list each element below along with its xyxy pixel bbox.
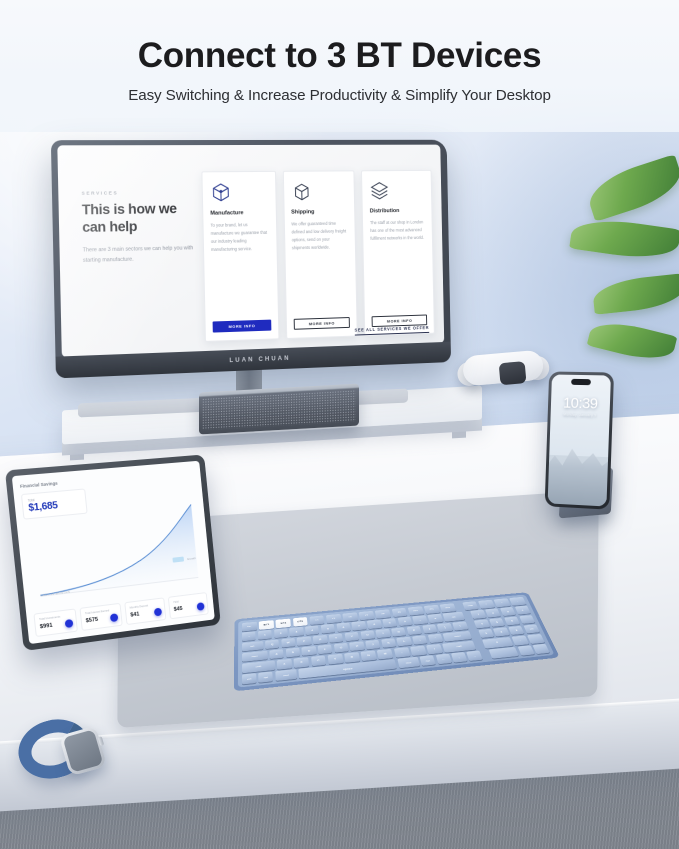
website-eyebrow: SERVICES	[81, 190, 192, 196]
stat-indicator-dot	[197, 602, 205, 611]
key-u[interactable]: U	[360, 630, 375, 640]
key-bluetooth-1[interactable]: BT1	[259, 620, 274, 630]
key-command-right[interactable]: cmd	[397, 657, 420, 668]
service-card-list: Manufacture To your brand, let us manufa…	[201, 158, 435, 342]
tablet-device: Financial Savings Total $1,685	[5, 454, 221, 651]
key-f9[interactable]: F9	[391, 608, 407, 617]
key-w[interactable]: W	[281, 638, 295, 648]
key-arrow-down[interactable]: ↓	[451, 652, 467, 662]
key-f4[interactable]: F4	[309, 615, 325, 624]
monitor-brand-label: LUAN CHUAN	[229, 355, 290, 363]
key-delete[interactable]: del	[443, 612, 465, 622]
key-period[interactable]: .	[410, 646, 427, 656]
key-s[interactable]: S	[286, 647, 301, 657]
numpad-key-enter[interactable]: ent	[523, 624, 540, 634]
service-card[interactable]: Distribution The staff at our shop in Lo…	[361, 170, 434, 336]
numpad-key-3[interactable]: 3	[508, 626, 525, 636]
numpad-key-bottom-2[interactable]	[517, 646, 534, 656]
key-6[interactable]: 6	[336, 623, 351, 632]
key-p[interactable]: P	[406, 626, 422, 636]
key-1[interactable]: 1	[258, 630, 272, 640]
key-c[interactable]: C	[311, 655, 327, 666]
numpad-key-1[interactable]: 1	[478, 629, 494, 639]
key-7[interactable]: 7	[352, 621, 367, 630]
key-backslash[interactable]: \	[452, 621, 468, 630]
plant-leaf	[583, 154, 679, 222]
numpad-key-multiply[interactable]: *	[494, 598, 511, 607]
key-bracket-left[interactable]: [	[422, 624, 438, 634]
key-option-right[interactable]: opt	[420, 655, 436, 666]
legend-label: Growth	[187, 556, 196, 561]
stat-card: Monthly Deposit $41	[124, 597, 166, 625]
key-i[interactable]: I	[376, 629, 391, 639]
key-y[interactable]: Y	[344, 632, 359, 642]
key-bluetooth-2[interactable]: BT2	[276, 619, 291, 628]
numpad-key-6[interactable]: 6	[504, 616, 520, 625]
key-minus[interactable]: -	[412, 615, 427, 624]
numpad-key-bottom-3[interactable]	[533, 644, 550, 654]
key-2[interactable]: 2	[274, 628, 288, 638]
package-box-icon	[291, 180, 348, 202]
stat-indicator-dot	[110, 613, 119, 622]
key-ctrl[interactable]: ctrl	[242, 673, 256, 684]
phone-lock-screen: 10:39 Monday, January 9	[548, 374, 611, 506]
curved-monitor: SERVICES This is how we can help There a…	[51, 140, 451, 379]
service-card-title: Manufacture	[210, 210, 268, 217]
key-capslock[interactable]: caps	[242, 651, 267, 663]
service-card-body: We offer guaranteed time defined and low…	[291, 220, 350, 312]
numpad-key-num[interactable]: num	[462, 601, 479, 610]
numpad-key-divide[interactable]: /	[478, 600, 495, 609]
numpad-key-9[interactable]: 9	[500, 607, 516, 616]
key-f8[interactable]: F8	[375, 609, 391, 618]
stat-card: Yield $45	[168, 592, 209, 620]
speaker-grille	[202, 390, 356, 431]
smartwatch	[16, 706, 108, 794]
watch-face	[63, 729, 104, 772]
numpad-key-2[interactable]: 2	[493, 627, 510, 637]
key-tilde[interactable]: ~	[242, 631, 256, 641]
stat-indicator-dot	[154, 607, 162, 616]
key-z[interactable]: Z	[277, 659, 292, 670]
key-8[interactable]: 8	[367, 620, 382, 629]
numpad-key-plus[interactable]: +	[514, 606, 530, 615]
hero-subheadline: Easy Switching & Increase Productivity &…	[0, 87, 679, 104]
numpad-key-7[interactable]: 7	[470, 610, 486, 619]
product-scene: Connect to 3 BT Devices Easy Switching &…	[0, 0, 679, 849]
numpad-key-5[interactable]: 5	[489, 618, 505, 627]
website-intro: SERVICES This is how we can help There a…	[81, 159, 196, 346]
monitor-screen: SERVICES This is how we can help There a…	[57, 145, 444, 358]
service-card[interactable]: Manufacture To your brand, let us manufa…	[201, 171, 279, 342]
service-card-title: Shipping	[291, 209, 348, 216]
stat-card: Total Interest Earned $575	[79, 602, 122, 631]
more-info-button[interactable]: MORE INFO	[293, 317, 350, 330]
key-option-left[interactable]: opt	[259, 672, 274, 683]
numpad-key-blank[interactable]	[519, 615, 536, 624]
key-arrow-left[interactable]: ←	[435, 654, 451, 664]
key-m[interactable]: M	[377, 649, 393, 659]
key-n[interactable]: N	[361, 650, 377, 660]
bluetooth-soundbar	[199, 384, 359, 435]
key-b[interactable]: B	[344, 652, 360, 662]
key-a[interactable]: A	[269, 649, 283, 659]
key-f6[interactable]: F6	[342, 612, 358, 621]
key-f[interactable]: F	[318, 644, 333, 654]
key-bracket-right[interactable]: ]	[437, 623, 453, 632]
numpad-key-blank-2[interactable]	[527, 634, 545, 644]
service-card[interactable]: Shipping We offer guaranteed time define…	[282, 170, 358, 339]
key-slash[interactable]: /	[426, 644, 443, 654]
website-heading: This is how we can help	[82, 201, 194, 236]
lock-screen-time: 10:39	[551, 394, 610, 413]
game-controller	[453, 341, 552, 393]
potted-plant	[565, 160, 679, 390]
key-arrow-right[interactable]: →	[467, 651, 484, 661]
controller-touchpad	[499, 361, 527, 385]
key-esc[interactable]: esc	[242, 622, 257, 632]
key-f5[interactable]: F5	[326, 614, 342, 623]
key-f7[interactable]: F7	[359, 611, 375, 620]
watch-crown[interactable]	[98, 736, 104, 746]
key-equals[interactable]: =	[428, 614, 443, 623]
numpad-key-decimal[interactable]: .	[511, 636, 528, 646]
stat-card: Total Investments $991	[33, 608, 78, 637]
hero-text-block: Connect to 3 BT Devices Easy Switching &…	[0, 36, 679, 104]
layers-stack-icon	[369, 180, 425, 202]
numpad-key-8[interactable]: 8	[485, 608, 501, 617]
key-h[interactable]: H	[349, 641, 364, 651]
key-semicolon[interactable]: ;	[412, 635, 428, 645]
numpad-key-minus[interactable]: -	[509, 597, 526, 606]
key-tab[interactable]: tab	[242, 641, 263, 652]
key-v[interactable]: V	[327, 654, 343, 665]
plant-leaf	[587, 316, 678, 366]
service-card-body: To your brand, let us manufacture we gua…	[210, 221, 270, 315]
key-l[interactable]: L	[397, 637, 413, 647]
key-0[interactable]: 0	[397, 617, 412, 626]
key-j[interactable]: J	[365, 640, 380, 650]
tablet-screen: Financial Savings Total $1,685	[12, 461, 215, 644]
numpad-key-bottom[interactable]	[489, 647, 519, 659]
key-f12[interactable]: F12	[440, 603, 457, 612]
key-4[interactable]: 4	[305, 626, 319, 636]
key-command-left[interactable]: cmd	[275, 669, 297, 681]
key-k[interactable]: K	[381, 638, 396, 648]
smartphone-device: 10:39 Monday, January 9	[545, 371, 614, 509]
key-3[interactable]: 3	[289, 627, 303, 637]
growth-area-chart	[31, 502, 202, 597]
plant-leaf	[592, 273, 679, 314]
controller-body	[462, 350, 544, 387]
key-o[interactable]: O	[391, 627, 406, 637]
more-info-button[interactable]: MORE INFO	[213, 320, 271, 333]
key-comma[interactable]: ,	[394, 647, 410, 657]
service-card-body: The staff at our shop in London has one …	[370, 218, 427, 309]
key-f11[interactable]: F11	[424, 605, 440, 614]
numpad-key-4[interactable]: 4	[474, 619, 490, 628]
website-body: There are 3 main sectors we can help you…	[83, 244, 195, 266]
service-card-title: Distribution	[370, 208, 425, 215]
key-9[interactable]: 9	[382, 618, 397, 627]
stat-indicator-dot	[65, 618, 74, 627]
key-q[interactable]: Q	[265, 639, 279, 649]
plant-leaf	[569, 215, 679, 264]
key-t[interactable]: T	[329, 633, 344, 643]
key-x[interactable]: X	[294, 657, 309, 668]
key-bluetooth-3[interactable]: BT3	[293, 617, 308, 626]
key-g[interactable]: G	[334, 643, 349, 653]
cube-box-icon	[210, 181, 269, 204]
hero-headline: Connect to 3 BT Devices	[0, 36, 679, 75]
key-e[interactable]: E	[297, 636, 312, 646]
website-mockup: SERVICES This is how we can help There a…	[57, 145, 444, 358]
phone-notch	[571, 379, 591, 385]
key-5[interactable]: 5	[321, 624, 336, 634]
key-r[interactable]: R	[313, 635, 328, 645]
keyboard-split-gap	[456, 603, 463, 611]
key-quote[interactable]: '	[428, 634, 444, 644]
key-f10[interactable]: F10	[407, 606, 423, 615]
key-d[interactable]: D	[302, 646, 317, 656]
